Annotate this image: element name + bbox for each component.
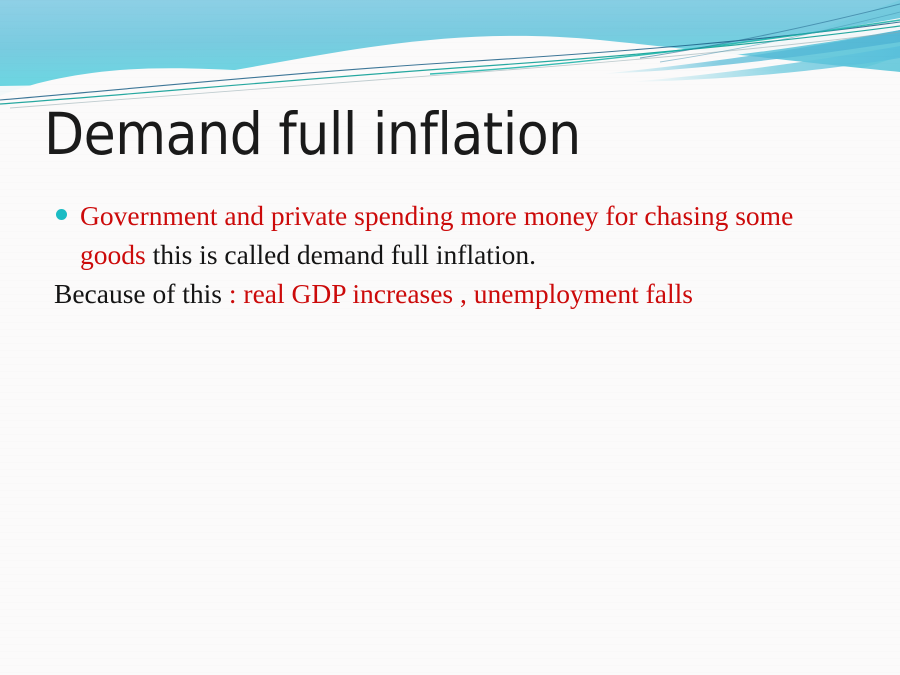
bullet-list-item: Government and private spending more mon… [48,196,860,274]
bullet-dot-icon [56,209,67,220]
header-banner-decoration [0,0,900,112]
slide-body: Government and private spending more mon… [48,196,860,313]
bullet-text-black-run: this is called demand full inflation. [153,239,536,270]
slide: Demand full inflation Government and pri… [0,0,900,675]
page-title: Demand full inflation [44,104,864,165]
banner-wave-graphic [0,0,900,112]
secondary-text-black-run: Because of this [54,278,229,309]
secondary-statement: Because of this : real GDP increases , u… [48,274,860,313]
secondary-text-red-run: : real GDP increases , unemployment fall… [229,278,693,309]
